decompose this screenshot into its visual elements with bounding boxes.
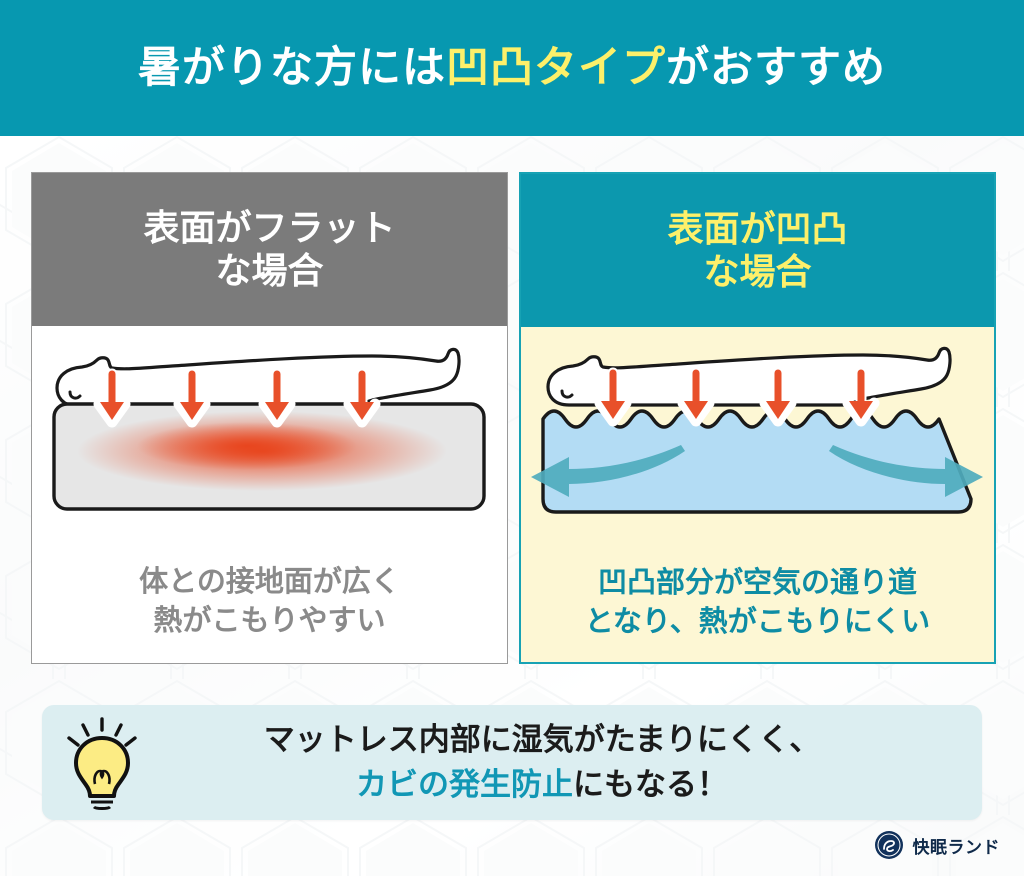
brand-logo: 快眠ランド — [874, 830, 1001, 860]
tip-line-1: マットレス内部に湿気がたまりにくく、 — [162, 718, 922, 762]
panel-flat-body: 体との接地面が広く 熱がこもりやすい — [32, 326, 507, 663]
brand-name: 快眠ランド — [913, 833, 1001, 858]
tip-bar: マットレス内部に湿気がたまりにくく、 カビの発生防止にもなる！ — [42, 705, 982, 820]
page-title-highlight: 凹凸タイプ — [446, 44, 666, 92]
flat-mattress-illustration — [32, 326, 507, 576]
header-bar: 暑がりな方には凹凸タイプがおすすめ — [0, 0, 1024, 136]
tip-line-2-highlight: カビの発生防止 — [356, 767, 573, 802]
panel-flat-caption-line1: 体との接地面が広く — [32, 563, 507, 602]
panel-uneven-heading: 表面が凹凸 な場合 — [521, 174, 994, 327]
tip-icon-wrap — [42, 716, 162, 810]
panel-uneven-caption-line2: となり、熱がこもりにくい — [521, 603, 994, 642]
infographic-page: 暑がりな方には凹凸タイプがおすすめ 表面がフラット な場合 — [0, 0, 1024, 876]
tip-line-2-post: にもなる！ — [573, 767, 728, 802]
panel-flat-heading-line2: な場合 — [143, 250, 395, 292]
panel-flat-caption-line2: 熱がこもりやすい — [32, 602, 507, 641]
panel-uneven-caption-line1: 凹凸部分が空気の通り道 — [521, 564, 994, 603]
panel-flat-caption: 体との接地面が広く 熱がこもりやすい — [32, 563, 507, 641]
page-title-pre: 暑がりな方には — [138, 44, 446, 92]
lightbulb-icon — [59, 716, 145, 810]
heat-glow — [77, 411, 447, 491]
panel-flat: 表面がフラット な場合 — [31, 172, 508, 664]
panel-uneven-caption: 凹凸部分が空気の通り道 となり、熱がこもりにくい — [521, 564, 994, 642]
panel-uneven-heading-line1: 表面が凹凸 — [667, 208, 847, 250]
panel-uneven: 表面が凹凸 な場合 — [519, 172, 996, 664]
panel-uneven-heading-line2: な場合 — [667, 251, 847, 293]
tip-text: マットレス内部に湿気がたまりにくく、 カビの発生防止にもなる！ — [162, 718, 982, 806]
uneven-mattress-illustration — [521, 327, 994, 577]
tip-line-2: カビの発生防止にもなる！ — [162, 763, 922, 807]
brand-seal-icon — [874, 830, 904, 860]
mattress-wavy — [543, 411, 971, 512]
panel-flat-heading: 表面がフラット な場合 — [32, 173, 507, 326]
page-title-post: がおすすめ — [666, 44, 886, 92]
page-title: 暑がりな方には凹凸タイプがおすすめ — [138, 47, 886, 90]
panel-uneven-body: 凹凸部分が空気の通り道 となり、熱がこもりにくい — [521, 327, 994, 664]
panel-flat-heading-line1: 表面がフラット — [143, 207, 395, 249]
